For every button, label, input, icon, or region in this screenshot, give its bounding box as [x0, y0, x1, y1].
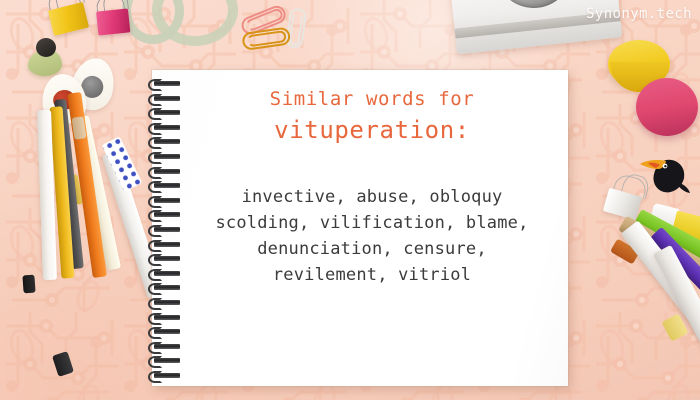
spiral-ring: [148, 226, 186, 232]
spiral-ring: [148, 357, 186, 363]
spiral-ring: [148, 241, 186, 247]
spiral-binding: [146, 72, 186, 384]
synonym-list: invective, abuse, obloquy scolding, vili…: [186, 184, 558, 288]
binder-clip-white: [603, 184, 643, 220]
spiral-ring: [148, 109, 186, 115]
watermark-logo: Synonym.tech: [586, 6, 692, 22]
spiral-ring: [148, 328, 186, 334]
spiral-ring: [148, 211, 186, 217]
spiral-ring: [148, 197, 186, 203]
spiral-ring: [148, 153, 186, 159]
synonym-line: invective, abuse, obloquy: [186, 184, 558, 210]
spiral-ring: [148, 372, 186, 378]
spiral-ring: [148, 314, 186, 320]
pen-white-tip: [52, 351, 74, 377]
spiral-ring: [148, 270, 186, 276]
spiral-ring: [148, 124, 186, 130]
spiral-ring: [148, 138, 186, 144]
synonym-line: scolding, vilification, blame,: [186, 210, 558, 236]
binder-clip-pink: [96, 4, 131, 35]
notepad-content: Similar words for vituperation: invectiv…: [186, 86, 558, 288]
pencil-yellow-ferrule: [22, 275, 35, 294]
synonym-line: denunciation, censure,: [186, 236, 558, 262]
desk-scene: Similar words for vituperation: invectiv…: [0, 0, 700, 400]
spiral-ring: [148, 299, 186, 305]
heading-word: vituperation:: [186, 114, 558, 146]
spiral-ring: [148, 343, 186, 349]
spiral-ring: [148, 284, 186, 290]
eraser-bird: [22, 38, 64, 76]
marker-white-2-band: [661, 313, 688, 341]
spiral-ring: [148, 95, 186, 101]
binder-clip-yellow: [47, 0, 89, 36]
synonym-line: revilement, vitriol: [186, 262, 558, 288]
macaron-pink: [636, 78, 698, 136]
spiral-ring: [148, 80, 186, 86]
spiral-ring: [148, 168, 186, 174]
spiral-ring: [148, 182, 186, 188]
heading-prefix: Similar words for: [186, 86, 558, 112]
spiral-ring: [148, 255, 186, 261]
